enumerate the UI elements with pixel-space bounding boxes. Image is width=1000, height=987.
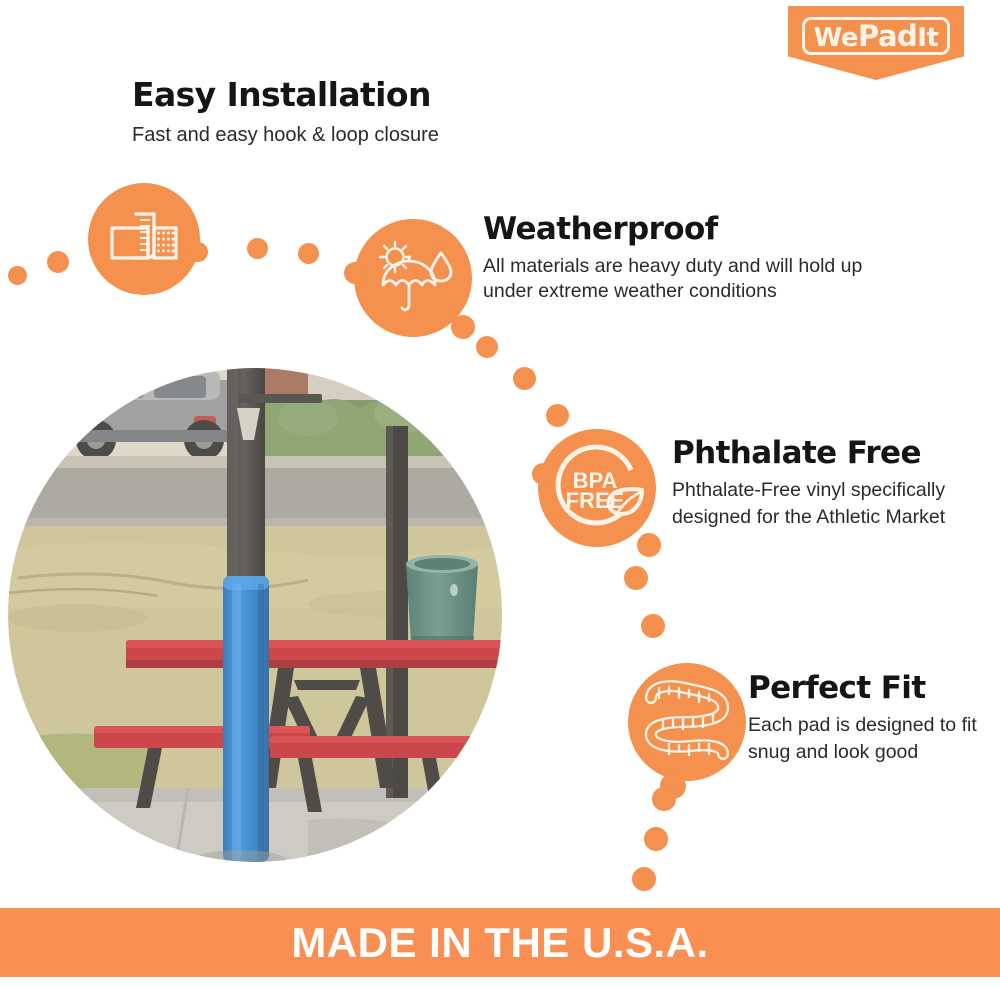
trail-dot <box>47 251 69 273</box>
made-in-usa-text: MADE IN THE U.S.A. <box>291 919 708 967</box>
trail-dot <box>632 867 656 891</box>
hook-and-loop-strap-icon <box>88 183 200 295</box>
product-photo-park-pole-pad <box>8 368 502 862</box>
feature-weatherproof: Weatherproof All materials are heavy dut… <box>483 213 913 305</box>
trail-dot <box>546 404 569 427</box>
feature-perfect-fit: Perfect Fit Each pad is designed to fit … <box>748 672 988 767</box>
badge-nub <box>188 242 208 262</box>
feature-description: Each pad is designed to fit snug and loo… <box>748 712 988 767</box>
badge-nub <box>637 533 661 557</box>
trail-dot <box>476 336 498 358</box>
feature-description: All materials are heavy duty and will ho… <box>483 254 913 306</box>
feature-title: Weatherproof <box>483 213 913 246</box>
feature-description: Phthalate-Free vinyl specifically design… <box>672 477 972 532</box>
measuring-tape-icon <box>628 663 746 781</box>
feature-easy-installation: Easy Installation Fast and easy hook & l… <box>132 78 562 148</box>
trail-dot <box>8 266 27 285</box>
logo-word-it: It <box>917 23 938 53</box>
logo-word-pad: Pad <box>858 19 917 53</box>
logo-word-we: We <box>814 23 858 53</box>
bpa-free-leaf-icon: BPA FREE <box>538 429 656 547</box>
trail-dot <box>652 787 676 811</box>
brand-logo: WePadIt <box>788 6 964 80</box>
logo-wordmark: WePadIt <box>814 22 939 51</box>
trail-dot <box>624 566 648 590</box>
trail-dot <box>247 238 268 259</box>
made-in-usa-banner: MADE IN THE U.S.A. <box>0 908 1000 977</box>
trail-dot <box>641 614 665 638</box>
badge-nub <box>532 463 554 485</box>
feature-phthalate-free: Phthalate Free Phthalate-Free vinyl spec… <box>672 437 972 532</box>
badge-nub <box>344 262 366 284</box>
badge-nub <box>451 315 475 339</box>
infographic-canvas: WePadIt Easy Installation Fast and easy … <box>0 0 1000 987</box>
feature-title: Easy Installation <box>132 78 562 113</box>
trail-dot <box>644 827 668 851</box>
trail-dot <box>298 243 319 264</box>
feature-title: Phthalate Free <box>672 437 972 470</box>
logo-outline-box: WePadIt <box>802 17 950 55</box>
trail-dot <box>513 367 536 390</box>
feature-description: Fast and easy hook & loop closure <box>132 122 562 149</box>
free-label: FREE <box>566 488 625 513</box>
feature-title: Perfect Fit <box>748 672 988 705</box>
